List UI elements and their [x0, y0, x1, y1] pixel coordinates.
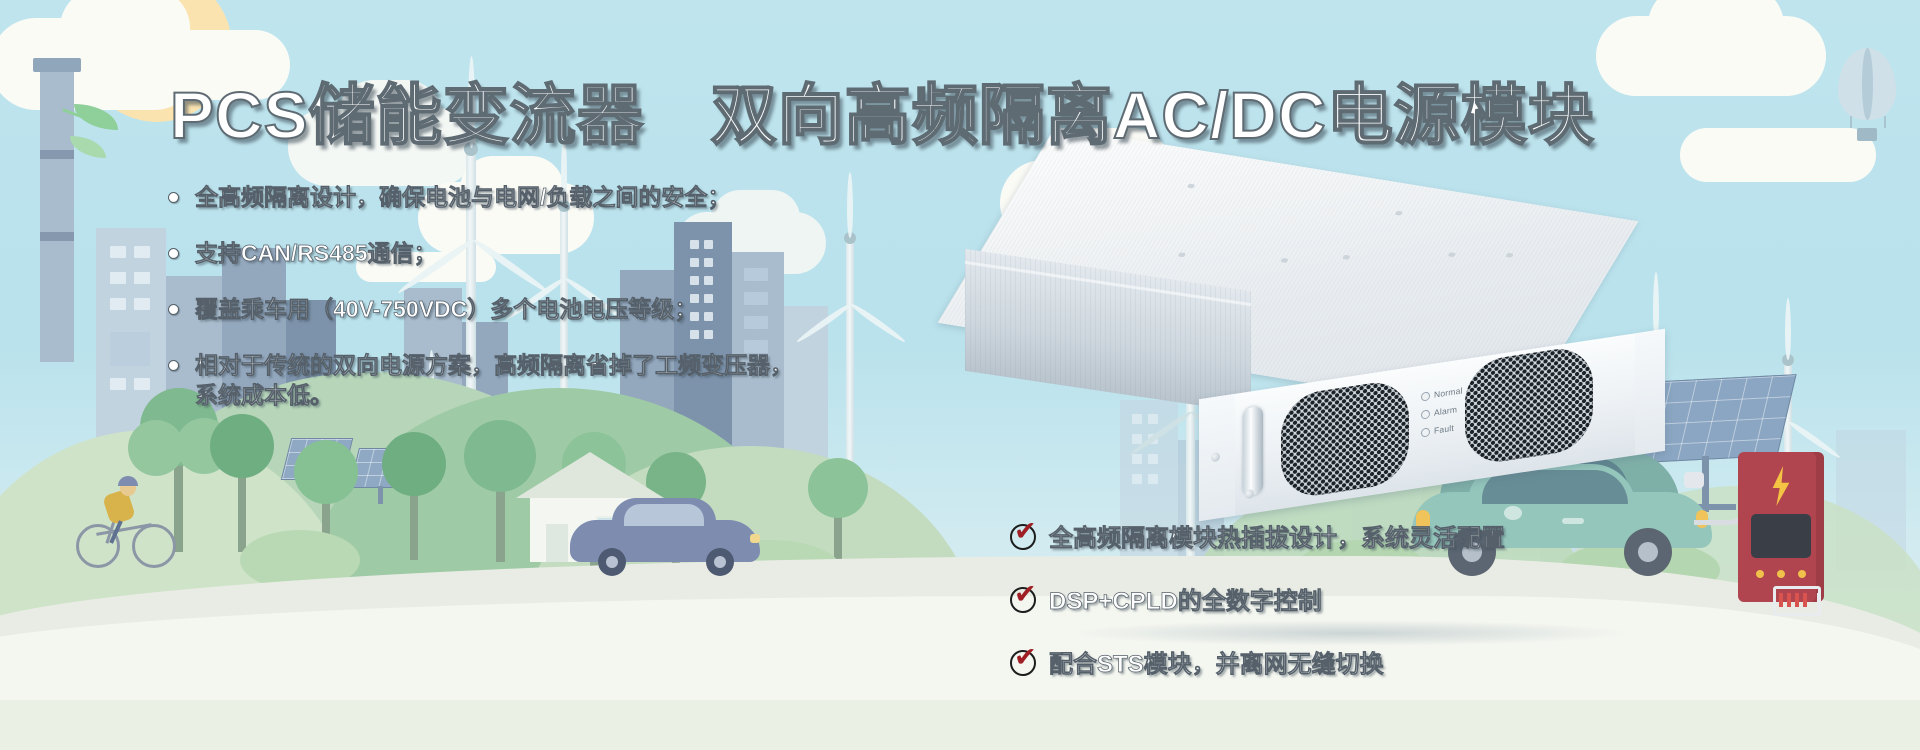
balloon-basket	[1857, 128, 1877, 141]
led-indicator-alarm: Alarm	[1421, 404, 1457, 419]
list-item: ✔ 全高频隔离模块热插拔设计，系统灵活配置	[1010, 518, 1570, 553]
car-wheel-hub	[714, 556, 726, 568]
feature-list: 全高频隔离设计，确保电池与电网/负载之间的安全； 支持CAN/RS485通信； …	[168, 182, 888, 436]
lightning-bolt-icon	[1768, 466, 1794, 506]
house-door	[546, 524, 568, 562]
led-indicator-fault: Fault	[1421, 423, 1454, 438]
product-power-module: Normal Alarm Fault	[950, 168, 1710, 488]
highlight-text: 全高频隔离模块热插拔设计，系统灵活配置	[1049, 518, 1570, 553]
chimney-band	[40, 232, 74, 241]
check-circle-icon: ✔	[1010, 648, 1037, 675]
highlight-text: DSP+CPLD的全数字控制	[1049, 581, 1570, 616]
charger-display	[1751, 514, 1811, 558]
page-title: PCS储能变流器 双向高频隔离AC/DC电源模块	[170, 62, 1595, 158]
charger-indicator	[1798, 570, 1806, 578]
highlight-list: ✔ 全高频隔离模块热插拔设计，系统灵活配置 ✔ DSP+CPLD的全数字控制 ✔…	[1010, 518, 1570, 707]
list-item: 全高频隔离设计，确保电池与电网/负载之间的安全；	[168, 182, 888, 212]
cyclist	[76, 480, 186, 570]
factory-chimney	[40, 62, 74, 362]
list-item: ✔ 配合STS模块，并离网无缝切换	[1010, 644, 1570, 679]
check-circle-icon: ✔	[1010, 522, 1037, 549]
balloon-rope	[1884, 116, 1886, 128]
car-wheel-hub	[606, 556, 618, 568]
battery-terminal	[1817, 593, 1821, 603]
bullet-dot-icon	[168, 248, 179, 259]
promo-banner: Normal Alarm Fault PCS储能变流器 双向高频隔离AC/DC电…	[0, 0, 1920, 750]
balloon-stripe	[1862, 48, 1873, 120]
chimney-band	[40, 150, 74, 159]
bullet-dot-icon	[168, 192, 179, 203]
check-mark: ✔	[1014, 646, 1040, 668]
tree-foliage	[294, 440, 358, 504]
battery-icon	[1773, 586, 1821, 616]
feature-text-line2: 系统成本低。	[195, 380, 888, 410]
led-dot	[1421, 391, 1430, 401]
list-item: 相对于传统的双向电源方案，高频隔离省掉了工频变压器， 系统成本低。	[168, 350, 888, 410]
check-mark: ✔	[1014, 520, 1040, 542]
product-handle	[1243, 406, 1263, 497]
check-circle-icon: ✔	[1010, 585, 1037, 612]
led-dot	[1421, 409, 1430, 419]
leaf-icon	[70, 136, 106, 158]
foreground-grass	[0, 700, 1920, 750]
feature-text: 支持CAN/RS485通信；	[195, 238, 888, 268]
balloon-rope	[1850, 116, 1852, 128]
feature-text: 全高频隔离设计，确保电池与电网/负载之间的安全；	[195, 182, 888, 212]
car-headlight	[750, 534, 760, 543]
bicycle-wheel	[132, 524, 176, 568]
charger-indicator	[1777, 570, 1785, 578]
feature-text-wrapper: 相对于传统的双向电源方案，高频隔离省掉了工频变压器， 系统成本低。	[195, 350, 888, 410]
led-label: Fault	[1434, 423, 1454, 436]
list-item: 支持CAN/RS485通信；	[168, 238, 888, 268]
tree-foliage	[808, 458, 868, 518]
led-indicator-normal: Normal	[1421, 385, 1463, 401]
car-window	[624, 504, 704, 526]
solar-panel-leg	[378, 486, 383, 504]
chimney-cap	[33, 58, 81, 72]
bullet-dot-icon	[168, 360, 179, 371]
ev-car-wheel-hub	[1638, 542, 1658, 562]
product-vent-grille	[1465, 344, 1593, 467]
feature-text: 覆盖乘车用（40V-750VDC）多个电池电压等级；	[195, 294, 888, 324]
tree-foliage	[382, 432, 446, 496]
list-item: ✔ DSP+CPLD的全数字控制	[1010, 581, 1570, 616]
product-screw	[1245, 489, 1254, 499]
house-roof	[516, 452, 664, 498]
bullet-dot-icon	[168, 304, 179, 315]
cloud-decoration	[1648, 0, 1784, 64]
car	[570, 498, 760, 574]
led-dot	[1421, 427, 1430, 437]
led-label: Alarm	[1434, 404, 1457, 418]
highlight-text: 配合STS模块，并离网无缝切换	[1049, 644, 1570, 679]
ev-charging-station	[1738, 452, 1824, 602]
product-vent-grille	[1281, 377, 1409, 500]
feature-text: 相对于传统的双向电源方案，高频隔离省掉了工频变压器，	[195, 350, 888, 380]
product-front-right-rail	[1635, 329, 1665, 456]
list-item: 覆盖乘车用（40V-750VDC）多个电池电压等级；	[168, 294, 888, 324]
led-label: Normal	[1434, 385, 1463, 399]
charger-indicator	[1756, 570, 1764, 578]
turbine-blade	[1785, 298, 1791, 360]
check-mark: ✔	[1014, 583, 1040, 605]
